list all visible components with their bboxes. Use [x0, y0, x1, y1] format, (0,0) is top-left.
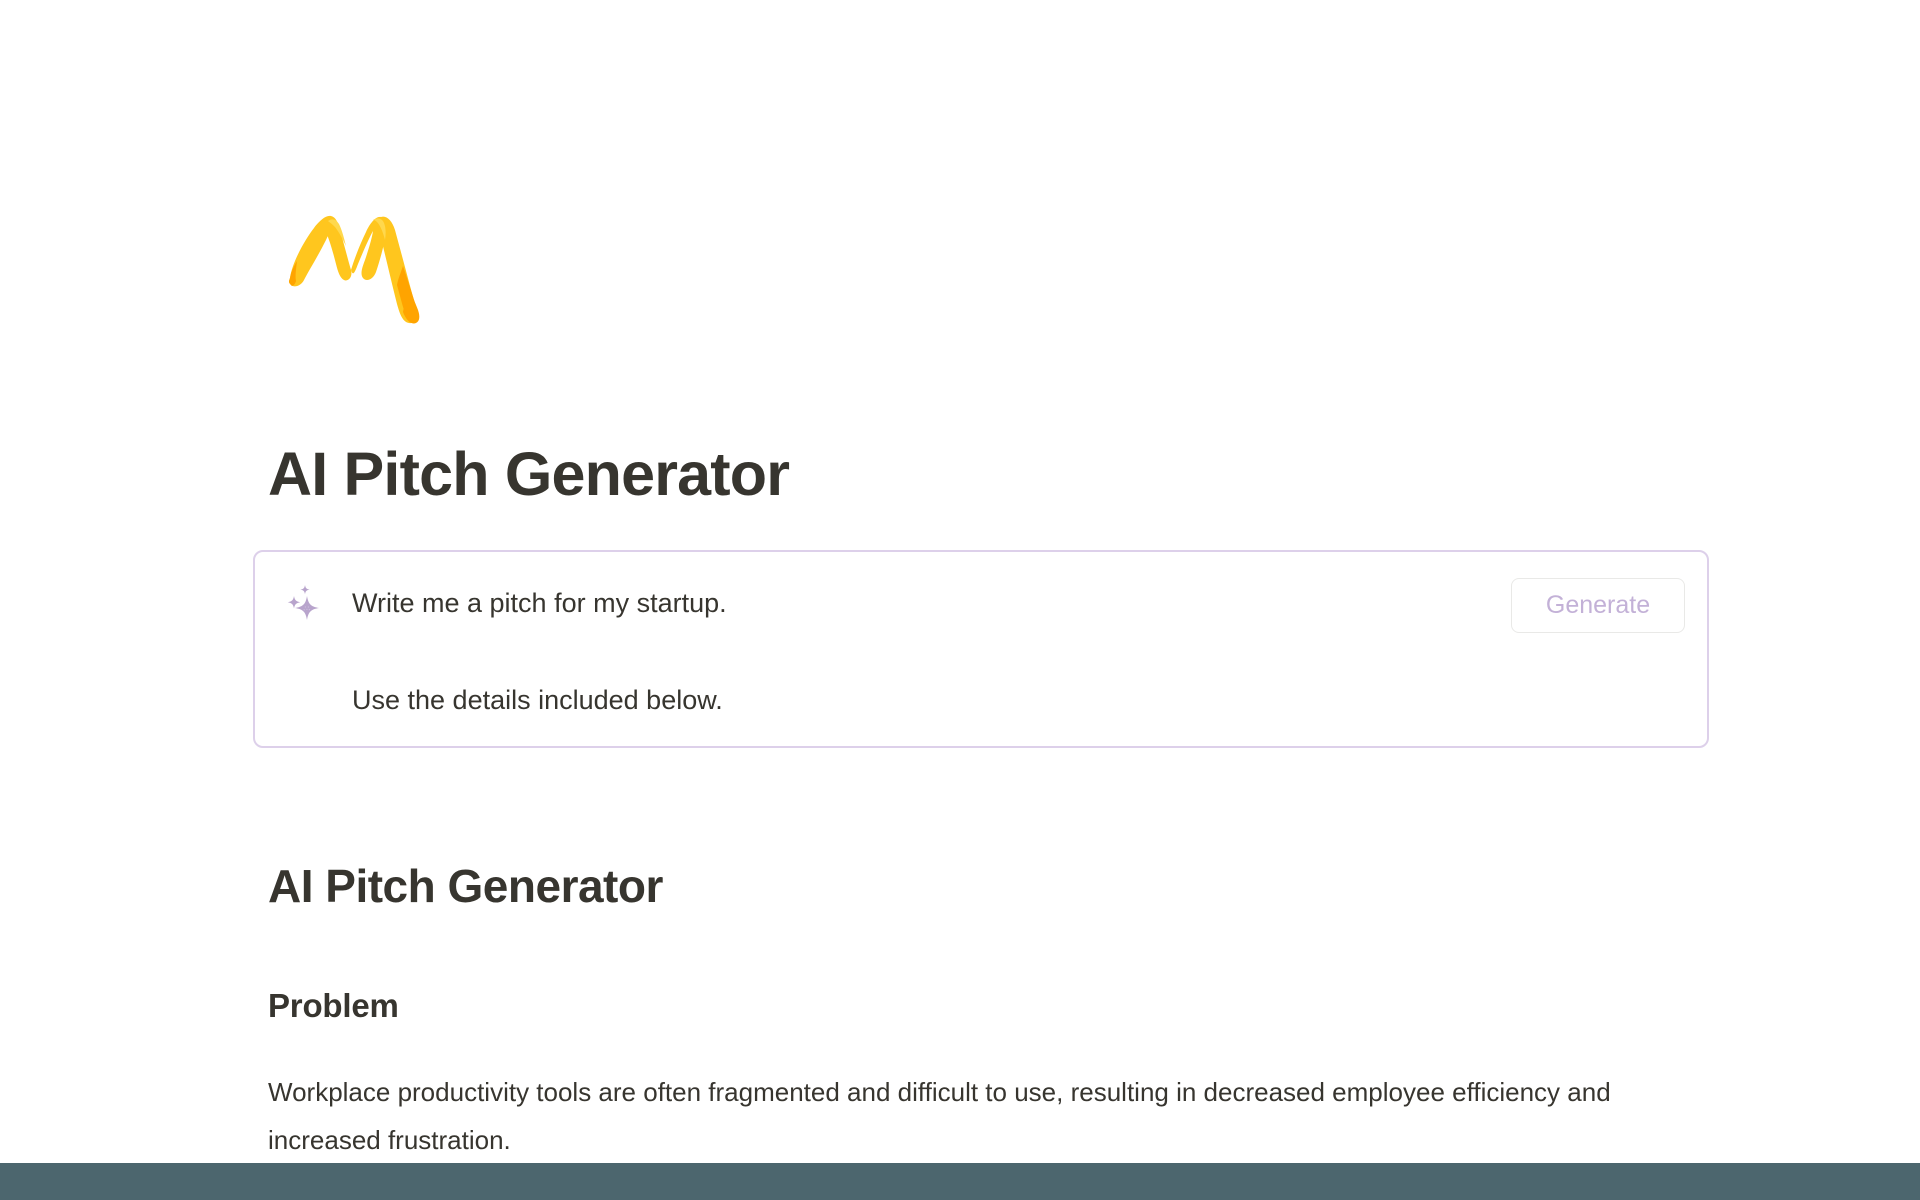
- app-root: AI Pitch Generator: [0, 0, 1920, 1200]
- section-heading-problem: Problem: [268, 985, 399, 1027]
- bottom-status-bar: [0, 1163, 1920, 1200]
- ai-prompt-card[interactable]: Write me a pitch for my startup. Use the…: [253, 550, 1709, 748]
- prompt-text-line-2[interactable]: Use the details included below.: [352, 683, 723, 717]
- section-body-problem: Workplace productivity tools are often f…: [268, 1068, 1658, 1163]
- page-canvas: AI Pitch Generator: [0, 0, 1920, 1163]
- prompt-text-line-1[interactable]: Write me a pitch for my startup.: [352, 586, 727, 620]
- ai-sparkle-icon: [281, 580, 325, 624]
- document-title: AI Pitch Generator: [268, 858, 663, 914]
- page-title: AI Pitch Generator: [268, 438, 789, 510]
- generate-button[interactable]: Generate: [1511, 578, 1685, 633]
- brushstroke-m-logo-icon: [268, 190, 428, 340]
